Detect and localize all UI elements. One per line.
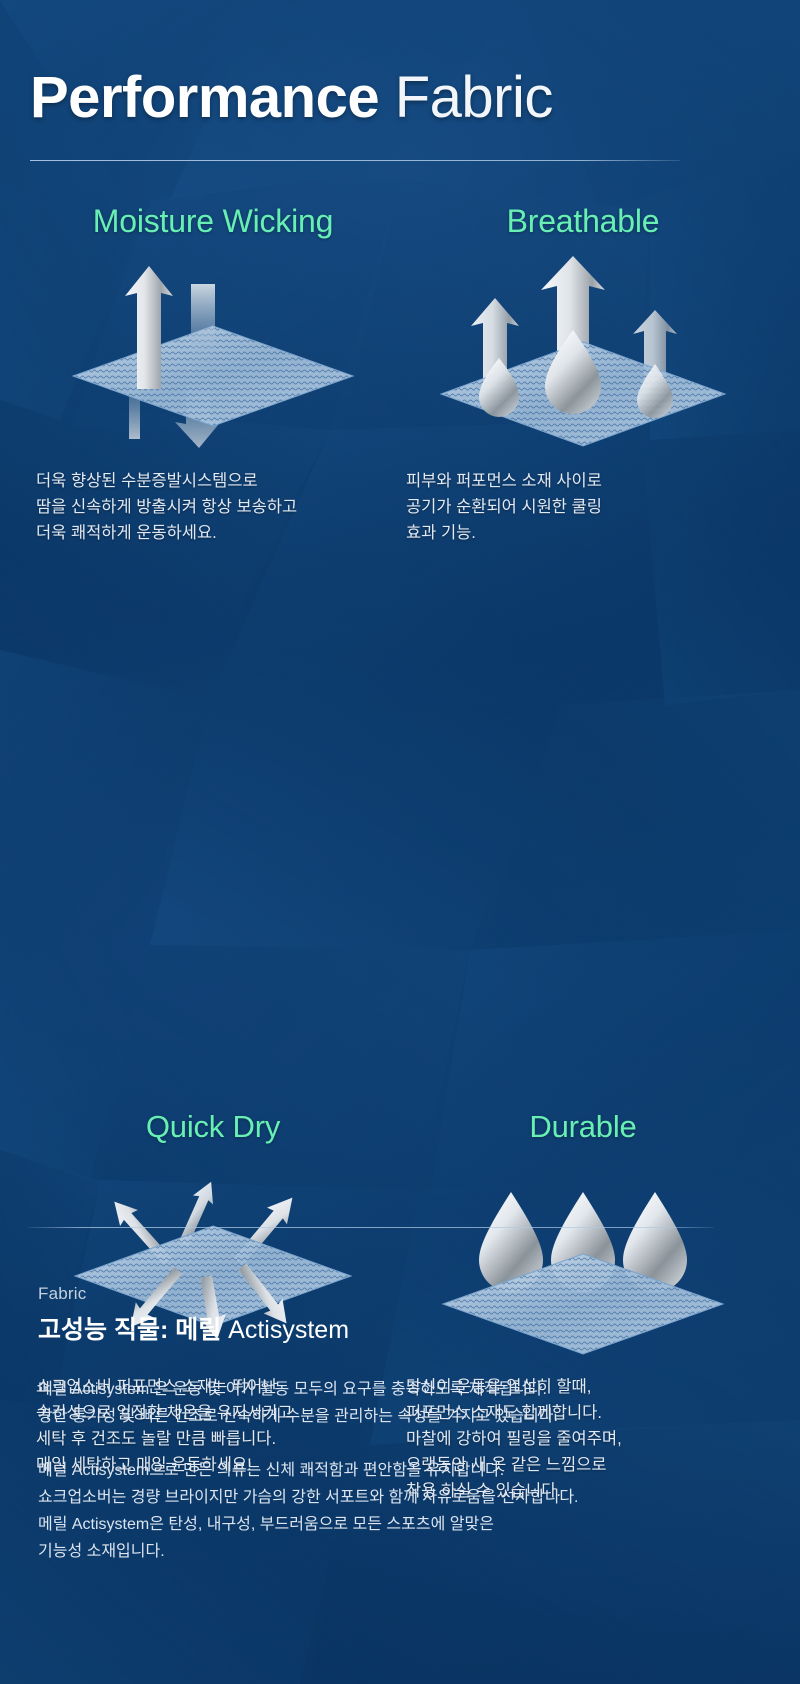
feature-title: Breathable: [398, 200, 768, 242]
paragraph-line: 메릴 Actisystem으로 만든 의류는 신체 쾌적함과 편안함을 유지합니…: [38, 1457, 768, 1484]
fabric-section: Fabric 고성능 직물: 메릴 Actisystem 메릴 Actisyst…: [38, 1282, 768, 1565]
feature-illustration: [28, 254, 398, 454]
paragraph-line: 쇼크업소버는 경량 브라이지만 가슴의 강한 서포트와 함께 자유로움을 선사합…: [38, 1484, 768, 1511]
feature-row-2: Quick Dry: [0, 666, 800, 1136]
fabric-body: 메릴 Actisystem 은 운동 및 여가 활동 모두의 요구를 충족하도록…: [38, 1376, 768, 1565]
page-title: Performance Fabric: [30, 62, 680, 134]
section-divider: [28, 1227, 714, 1228]
desc-line: 땀을 신속하게 방출시켜 항상 보송하고: [36, 494, 398, 520]
title-divider: [30, 160, 680, 161]
feature-description: 더욱 향상된 수분증발시스템으로 땀을 신속하게 방출시켜 항상 보송하고 더욱…: [28, 468, 398, 546]
fabric-eyebrow-label: Fabric: [38, 1282, 768, 1306]
feature-illustration: [398, 254, 768, 454]
page-title-light: Fabric: [395, 65, 553, 130]
paragraph-line: 메릴 Actisystem 은 운동 및 여가 활동 모두의 요구를 충족하도록…: [38, 1376, 768, 1403]
feature-title: Durable: [398, 1106, 768, 1148]
fabric-mesh-droplets-up-arrows-icon: [433, 254, 733, 449]
desc-line: 공기가 순환되어 시원한 쿨링: [406, 494, 768, 520]
feature-card-breathable: Breathable: [398, 200, 768, 546]
desc-line: 더욱 쾌적하게 운동하세요.: [36, 520, 398, 546]
desc-line: 효과 기능.: [406, 520, 768, 546]
paragraph-line: 메릴 Actisystem은 탄성, 내구성, 부드러움으로 모든 스포츠에 알…: [38, 1511, 768, 1538]
desc-line: 더욱 향상된 수분증발시스템으로: [36, 468, 398, 494]
feature-description: 피부와 퍼포먼스 소재 사이로 공기가 순환되어 시원한 쿨링 효과 기능.: [398, 468, 768, 546]
fabric-heading-regular: Actisystem: [228, 1316, 349, 1344]
fabric-heading: 고성능 직물: 메릴 Actisystem: [38, 1312, 768, 1348]
feature-card-moisture-wicking: Moisture Wicking: [28, 200, 398, 546]
fabric-mesh-up-down-arrows-icon: [63, 254, 363, 449]
feature-row-1: Moisture Wicking: [0, 200, 800, 666]
feature-grid: Moisture Wicking: [0, 200, 800, 1136]
page-title-strong: Performance: [30, 65, 379, 130]
paragraph-line: 강한 통기성 및 빠른 건조로 신속하게 수분을 관리하는 속성을 가지고 있습…: [38, 1403, 768, 1430]
page-background: Performance Fabric Moisture Wicking: [0, 0, 800, 1684]
feature-title: Quick Dry: [28, 1106, 398, 1148]
paragraph-line: 기능성 소재입니다.: [38, 1538, 768, 1565]
desc-line: 피부와 퍼포먼스 소재 사이로: [406, 468, 768, 494]
fabric-heading-bold: 고성능 직물: 메릴: [38, 1316, 228, 1344]
page-header: Performance Fabric: [30, 62, 680, 134]
fabric-paragraph: 메릴 Actisystem으로 만든 의류는 신체 쾌적함과 편안함을 유지합니…: [38, 1457, 768, 1565]
feature-title: Moisture Wicking: [28, 200, 398, 242]
fabric-paragraph: 메릴 Actisystem 은 운동 및 여가 활동 모두의 요구를 충족하도록…: [38, 1376, 768, 1430]
